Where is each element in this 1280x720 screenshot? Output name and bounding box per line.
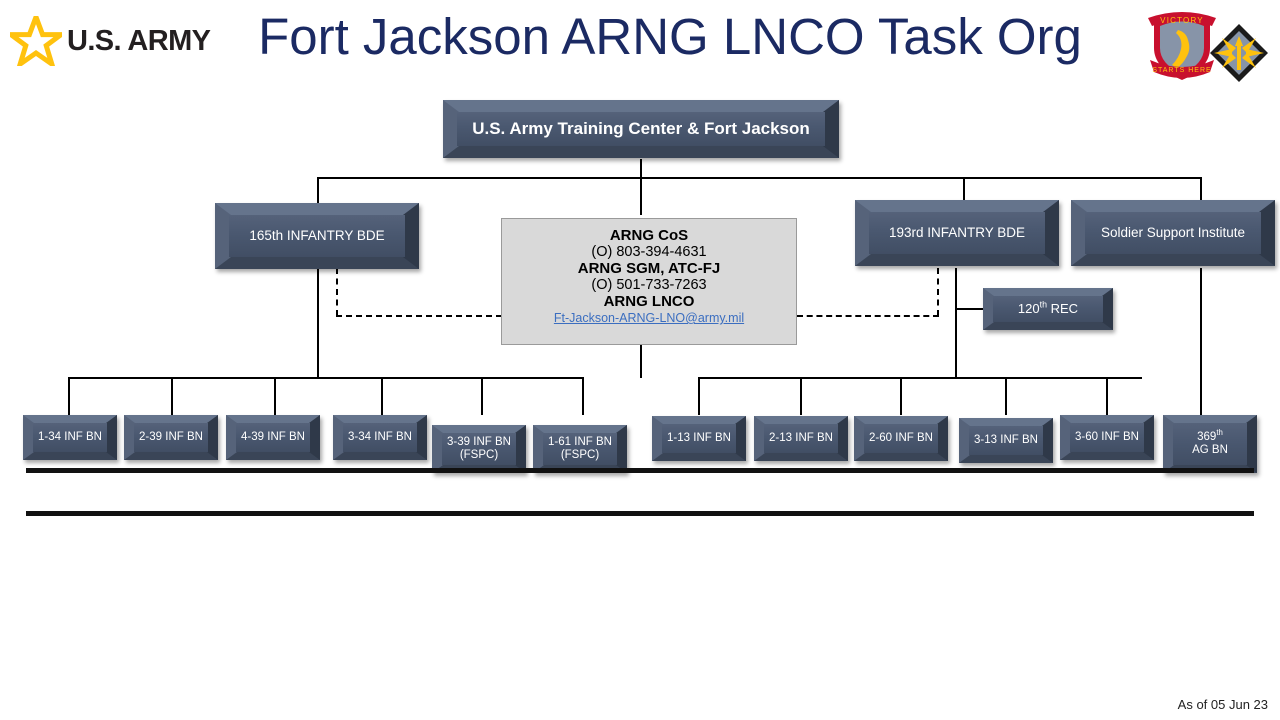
connector-left-battalion-bus	[68, 377, 584, 379]
divider-rule-upper	[26, 468, 1254, 473]
arng-sgm-role: ARNG SGM, ATC-FJ	[502, 261, 796, 277]
connector-main-bus	[317, 177, 1202, 179]
connector-dashed-right	[797, 315, 939, 317]
org-box-soldier-support-institute[interactable]: Soldier Support Institute	[1071, 200, 1275, 266]
org-box-battalion[interactable]: 1-61 INF BN(FSPC)	[533, 425, 627, 473]
soldier-support-institute-torch-icon	[1208, 22, 1270, 84]
org-box-root[interactable]: U.S. Army Training Center & Fort Jackson	[443, 100, 839, 158]
org-chart-slide: U.S. ARMY Fort Jackson ARNG LNCO Task Or…	[0, 0, 1280, 720]
us-army-logo: U.S. ARMY	[10, 12, 230, 68]
org-box-369th-ag-bn[interactable]: 369thAG BN	[1163, 415, 1257, 473]
army-wordmark: U.S. ARMY	[67, 25, 210, 58]
arng-lnco-email-link[interactable]: Ft-Jackson-ARNG-LNO@army.mil	[554, 311, 744, 325]
battalion-label: 3-13 INF BN	[968, 434, 1044, 447]
battalion-label: 2-13 INF BN	[763, 432, 839, 445]
org-box-battalion[interactable]: 3-34 INF BN	[333, 415, 427, 460]
svg-text:VICTORY: VICTORY	[1160, 16, 1204, 25]
connector-dashed-right-vertical	[937, 268, 939, 316]
connector-bn-drop-2	[171, 377, 173, 415]
connector-bn-drop-4	[381, 377, 383, 415]
org-box-193rd-label: 193rd INFANTRY BDE	[883, 225, 1031, 241]
connector-bn-drop-6	[582, 377, 584, 415]
connector-bn-drop-8	[800, 377, 802, 415]
connector-dashed-left	[336, 315, 502, 317]
battalion-label: 2-39 INF BN	[133, 431, 209, 444]
battalion-label: 3-60 INF BN	[1069, 431, 1145, 444]
svg-text:STARTS HERE: STARTS HERE	[1152, 67, 1211, 74]
connector-drop-165	[317, 177, 319, 205]
battalion-label: 1-61 INF BN(FSPC)	[542, 436, 618, 462]
battalion-label: 1-34 INF BN	[32, 431, 108, 444]
org-box-battalion[interactable]: 1-13 INF BN	[652, 416, 746, 461]
connector-drop-center	[640, 177, 642, 215]
connector-bn-drop-1	[68, 377, 70, 415]
org-box-root-label: U.S. Army Training Center & Fort Jackson	[466, 119, 816, 139]
org-box-battalion[interactable]: 1-34 INF BN	[23, 415, 117, 460]
org-box-battalion[interactable]: 4-39 INF BN	[226, 415, 320, 460]
arng-sgm-phone: (O) 501-733-7263	[502, 277, 796, 293]
connector-bn-drop-10	[1005, 377, 1007, 415]
org-box-120th-rec[interactable]: 120th REC	[983, 288, 1113, 330]
battalion-label: 2-60 INF BN	[863, 432, 939, 445]
connector-bn-drop-7	[698, 377, 700, 415]
battalion-label: 3-34 INF BN	[342, 431, 418, 444]
army-star-icon	[10, 16, 62, 66]
org-box-battalion[interactable]: 3-13 INF BN	[959, 418, 1053, 463]
connector-bn-drop-9	[900, 377, 902, 415]
arng-contact-panel: ARNG CoS (O) 803-394-4631 ARNG SGM, ATC-…	[501, 218, 797, 345]
connector-drop-193	[963, 177, 965, 202]
as-of-date: As of 05 Jun 23	[1178, 697, 1268, 712]
arng-cos-phone: (O) 803-394-4631	[502, 244, 796, 260]
connector-drop-ssi	[1200, 177, 1202, 202]
org-box-ssi-label: Soldier Support Institute	[1095, 225, 1251, 241]
org-box-193rd-infantry-bde[interactable]: 193rd INFANTRY BDE	[855, 200, 1059, 266]
org-box-battalion[interactable]: 3-39 INF BN(FSPC)	[432, 425, 526, 473]
org-box-165th-label: 165th INFANTRY BDE	[243, 228, 390, 244]
connector-right-battalion-bus	[698, 377, 1142, 379]
org-box-165th-infantry-bde[interactable]: 165th INFANTRY BDE	[215, 203, 419, 269]
org-box-120th-rec-label: 120th REC	[1012, 302, 1084, 317]
connector-center-down	[640, 345, 642, 378]
org-box-battalion[interactable]: 3-60 INF BN	[1060, 415, 1154, 460]
org-box-battalion[interactable]: 2-13 INF BN	[754, 416, 848, 461]
org-box-battalion[interactable]: 2-60 INF BN	[854, 416, 948, 461]
battalion-label: 369thAG BN	[1186, 431, 1234, 457]
connector-165-down	[317, 268, 319, 378]
connector-bn-drop-3	[274, 377, 276, 415]
page-title: Fort Jackson ARNG LNCO Task Org	[230, 4, 1110, 74]
connector-193-down	[955, 268, 957, 378]
arng-lnco-role: ARNG LNCO	[502, 294, 796, 310]
org-box-battalion[interactable]: 2-39 INF BN	[124, 415, 218, 460]
battalion-label: 4-39 INF BN	[235, 431, 311, 444]
connector-dashed-left-vertical	[336, 268, 338, 316]
arng-cos-role: ARNG CoS	[502, 228, 796, 244]
connector-bn-drop-11	[1106, 377, 1108, 415]
connector-bn-drop-5	[481, 377, 483, 415]
connector-root-stem	[640, 159, 642, 179]
battalion-label: 3-39 INF BN(FSPC)	[441, 436, 517, 462]
divider-rule-lower	[26, 511, 1254, 516]
connector-120rec-tee	[955, 308, 985, 310]
connector-ssi-down	[1200, 268, 1202, 415]
battalion-label: 1-13 INF BN	[661, 432, 737, 445]
